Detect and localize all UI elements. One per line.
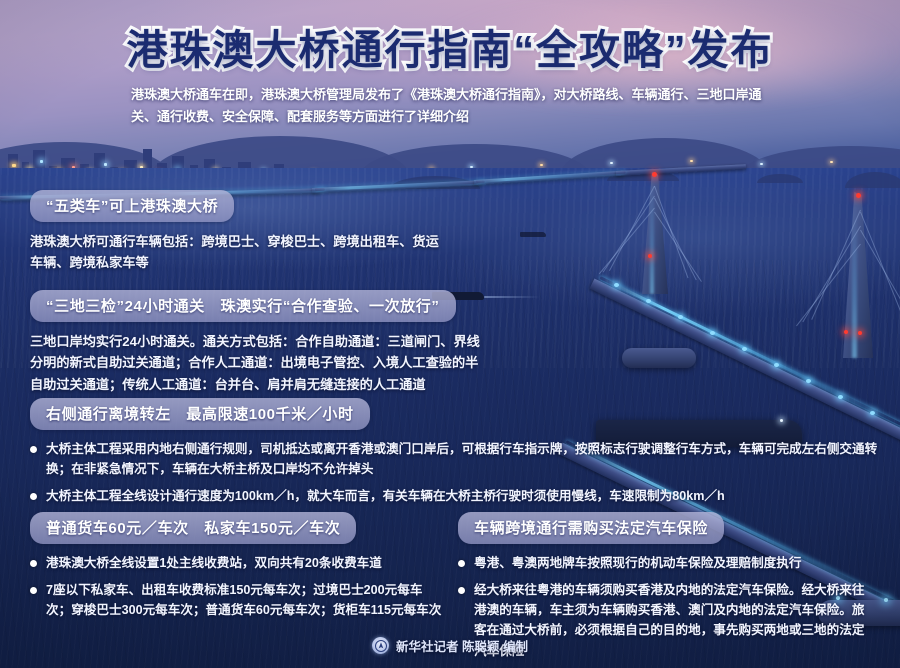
list-item: 7座以下私家车、出租车收费标准150元每车次；过境巴士200元每车次；穿梭巴士3…	[30, 580, 442, 620]
section-heading-customs-clearance: “三地三检”24小时通关 珠澳实行“合作查验、一次放行”	[30, 290, 456, 322]
section-toll-fees: 普通货车60元／车次 私家车150元／车次 港珠澳大桥全线设置1处主线收费站，双…	[30, 512, 442, 627]
page-title: 港珠澳大桥通行指南“全攻略”发布	[0, 0, 900, 74]
bullet-list-driving-rules: 大桥主体工程采用内地右侧通行规则，司机抵达或离开香港或澳门口岸后，可根据行车指示…	[30, 439, 880, 506]
footer-credit: 新华社记者 陈聪颖 编制	[0, 636, 900, 655]
section-heading-driving-rules: 右侧通行离境转左 最高限速100千米／小时	[30, 398, 370, 430]
section-body-customs-clearance: 三地口岸均实行24小时通关。通关方式包括：合作自助通道：三道闸门、界线分明的新式…	[30, 331, 482, 395]
section-customs-clearance: “三地三检”24小时通关 珠澳实行“合作查验、一次放行” 三地口岸均实行24小时…	[30, 290, 482, 395]
section-heading-toll-fees: 普通货车60元／车次 私家车150元／车次	[30, 512, 356, 544]
section-heading-vehicle-types: “五类车”可上港珠澳大桥	[30, 190, 234, 222]
page-subtitle: 港珠澳大桥通车在即，港珠澳大桥管理局发布了《港珠澳大桥通行指南》，对大桥路线、车…	[119, 84, 781, 129]
poster-header: 港珠澳大桥通行指南“全攻略”发布 港珠澳大桥通车在即，港珠澳大桥管理局发布了《港…	[0, 0, 900, 129]
section-body-vehicle-types: 港珠澳大桥可通行车辆包括：跨境巴士、穿梭巴士、跨境出租车、货运车辆、跨境私家车等	[30, 231, 450, 274]
section-driving-rules: 右侧通行离境转左 最高限速100千米／小时 大桥主体工程采用内地右侧通行规则，司…	[30, 398, 880, 513]
list-item: 粤港、粤澳两地牌车按照现行的机动车保险及理赔制度执行	[458, 553, 870, 573]
list-item: 港珠澳大桥全线设置1处主线收费站，双向共有20条收费车道	[30, 553, 442, 573]
list-item: 大桥主体工程全线设计通行速度为100km／h，就大车而言，有关车辆在大桥主桥行驶…	[30, 486, 880, 506]
section-vehicle-types: “五类车”可上港珠澳大桥 港珠澳大桥可通行车辆包括：跨境巴士、穿梭巴士、跨境出租…	[30, 190, 450, 274]
list-item: 大桥主体工程采用内地右侧通行规则，司机抵达或离开香港或澳门口岸后，可根据行车指示…	[30, 439, 880, 479]
xinhua-emblem-icon	[372, 637, 389, 654]
bullet-list-toll-fees: 港珠澳大桥全线设置1处主线收费站，双向共有20条收费车道 7座以下私家车、出租车…	[30, 553, 442, 620]
infographic-poster: 港珠澳大桥通行指南“全攻略”发布 港珠澳大桥通车在即，港珠澳大桥管理局发布了《港…	[0, 0, 900, 668]
section-heading-insurance: 车辆跨境通行需购买法定汽车保险	[458, 512, 724, 544]
credit-text: 新华社记者 陈聪颖 编制	[396, 636, 528, 655]
